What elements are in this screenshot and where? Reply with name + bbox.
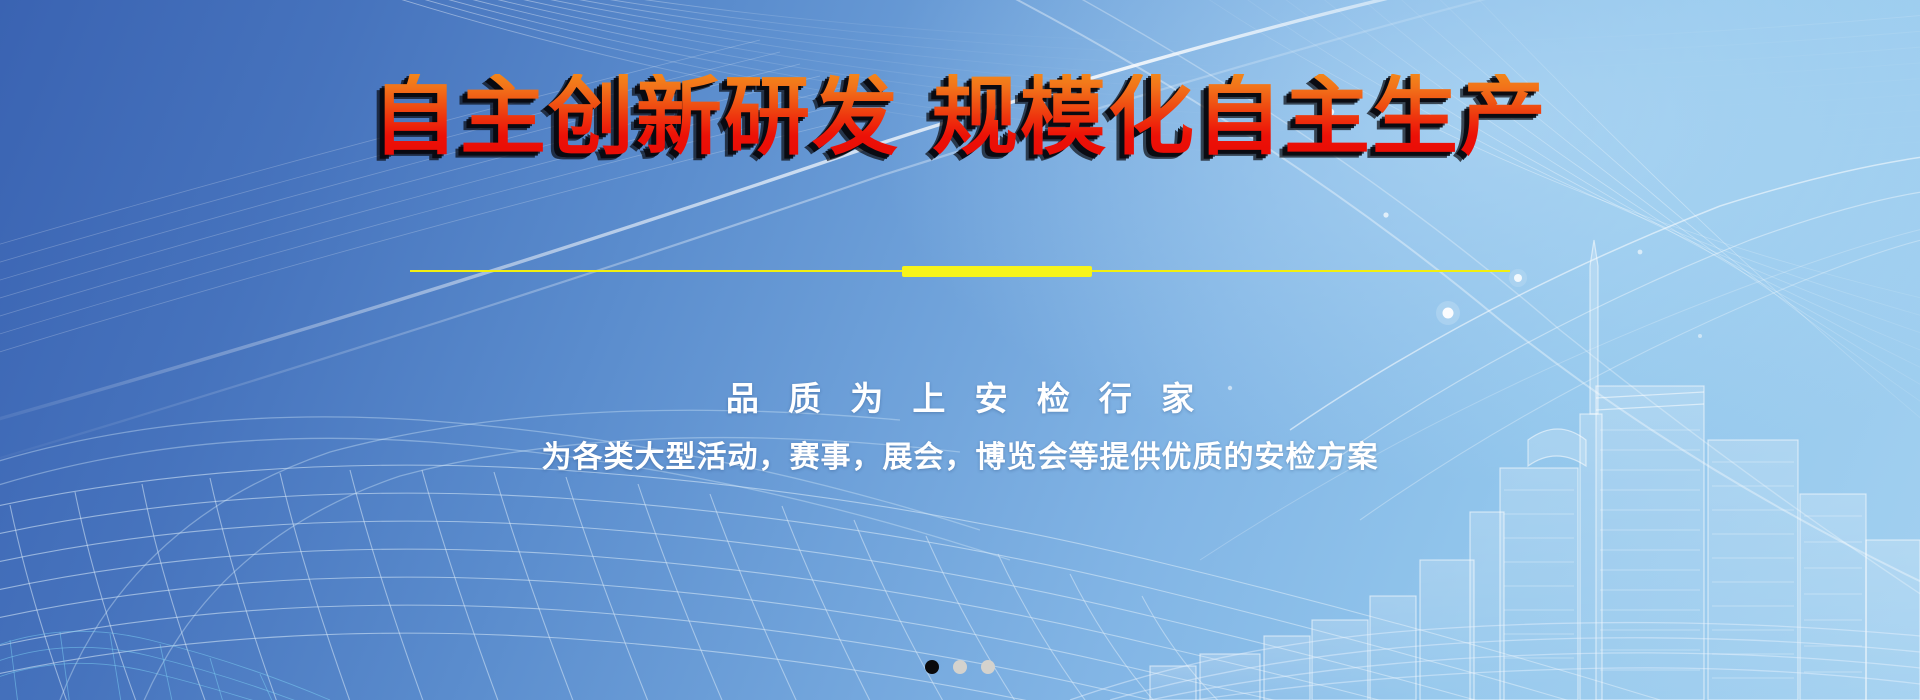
headline-container: 自主创新研发 规模化自主生产	[0, 74, 1920, 160]
carousel-pagination[interactable]	[925, 660, 995, 674]
banner-headline: 自主创新研发 规模化自主生产	[372, 74, 1548, 160]
divider-accent-bar	[902, 266, 1092, 277]
carousel-dot-2[interactable]	[953, 660, 967, 674]
subtitle-description: 为各类大型活动，赛事，展会，博览会等提供优质的安检方案	[0, 439, 1920, 477]
carousel-dot-3[interactable]	[981, 660, 995, 674]
carousel-dot-1[interactable]	[925, 660, 939, 674]
divider	[410, 264, 1510, 278]
subtitle-container: 品 质 为 上 安 检 行 家 为各类大型活动，赛事，展会，博览会等提供优质的安…	[0, 378, 1920, 477]
hero-banner: 自主创新研发 规模化自主生产 品 质 为 上 安 检 行 家 为各类大型活动，赛…	[0, 0, 1920, 700]
subtitle-slogan: 品 质 为 上 安 检 行 家	[0, 378, 1920, 419]
